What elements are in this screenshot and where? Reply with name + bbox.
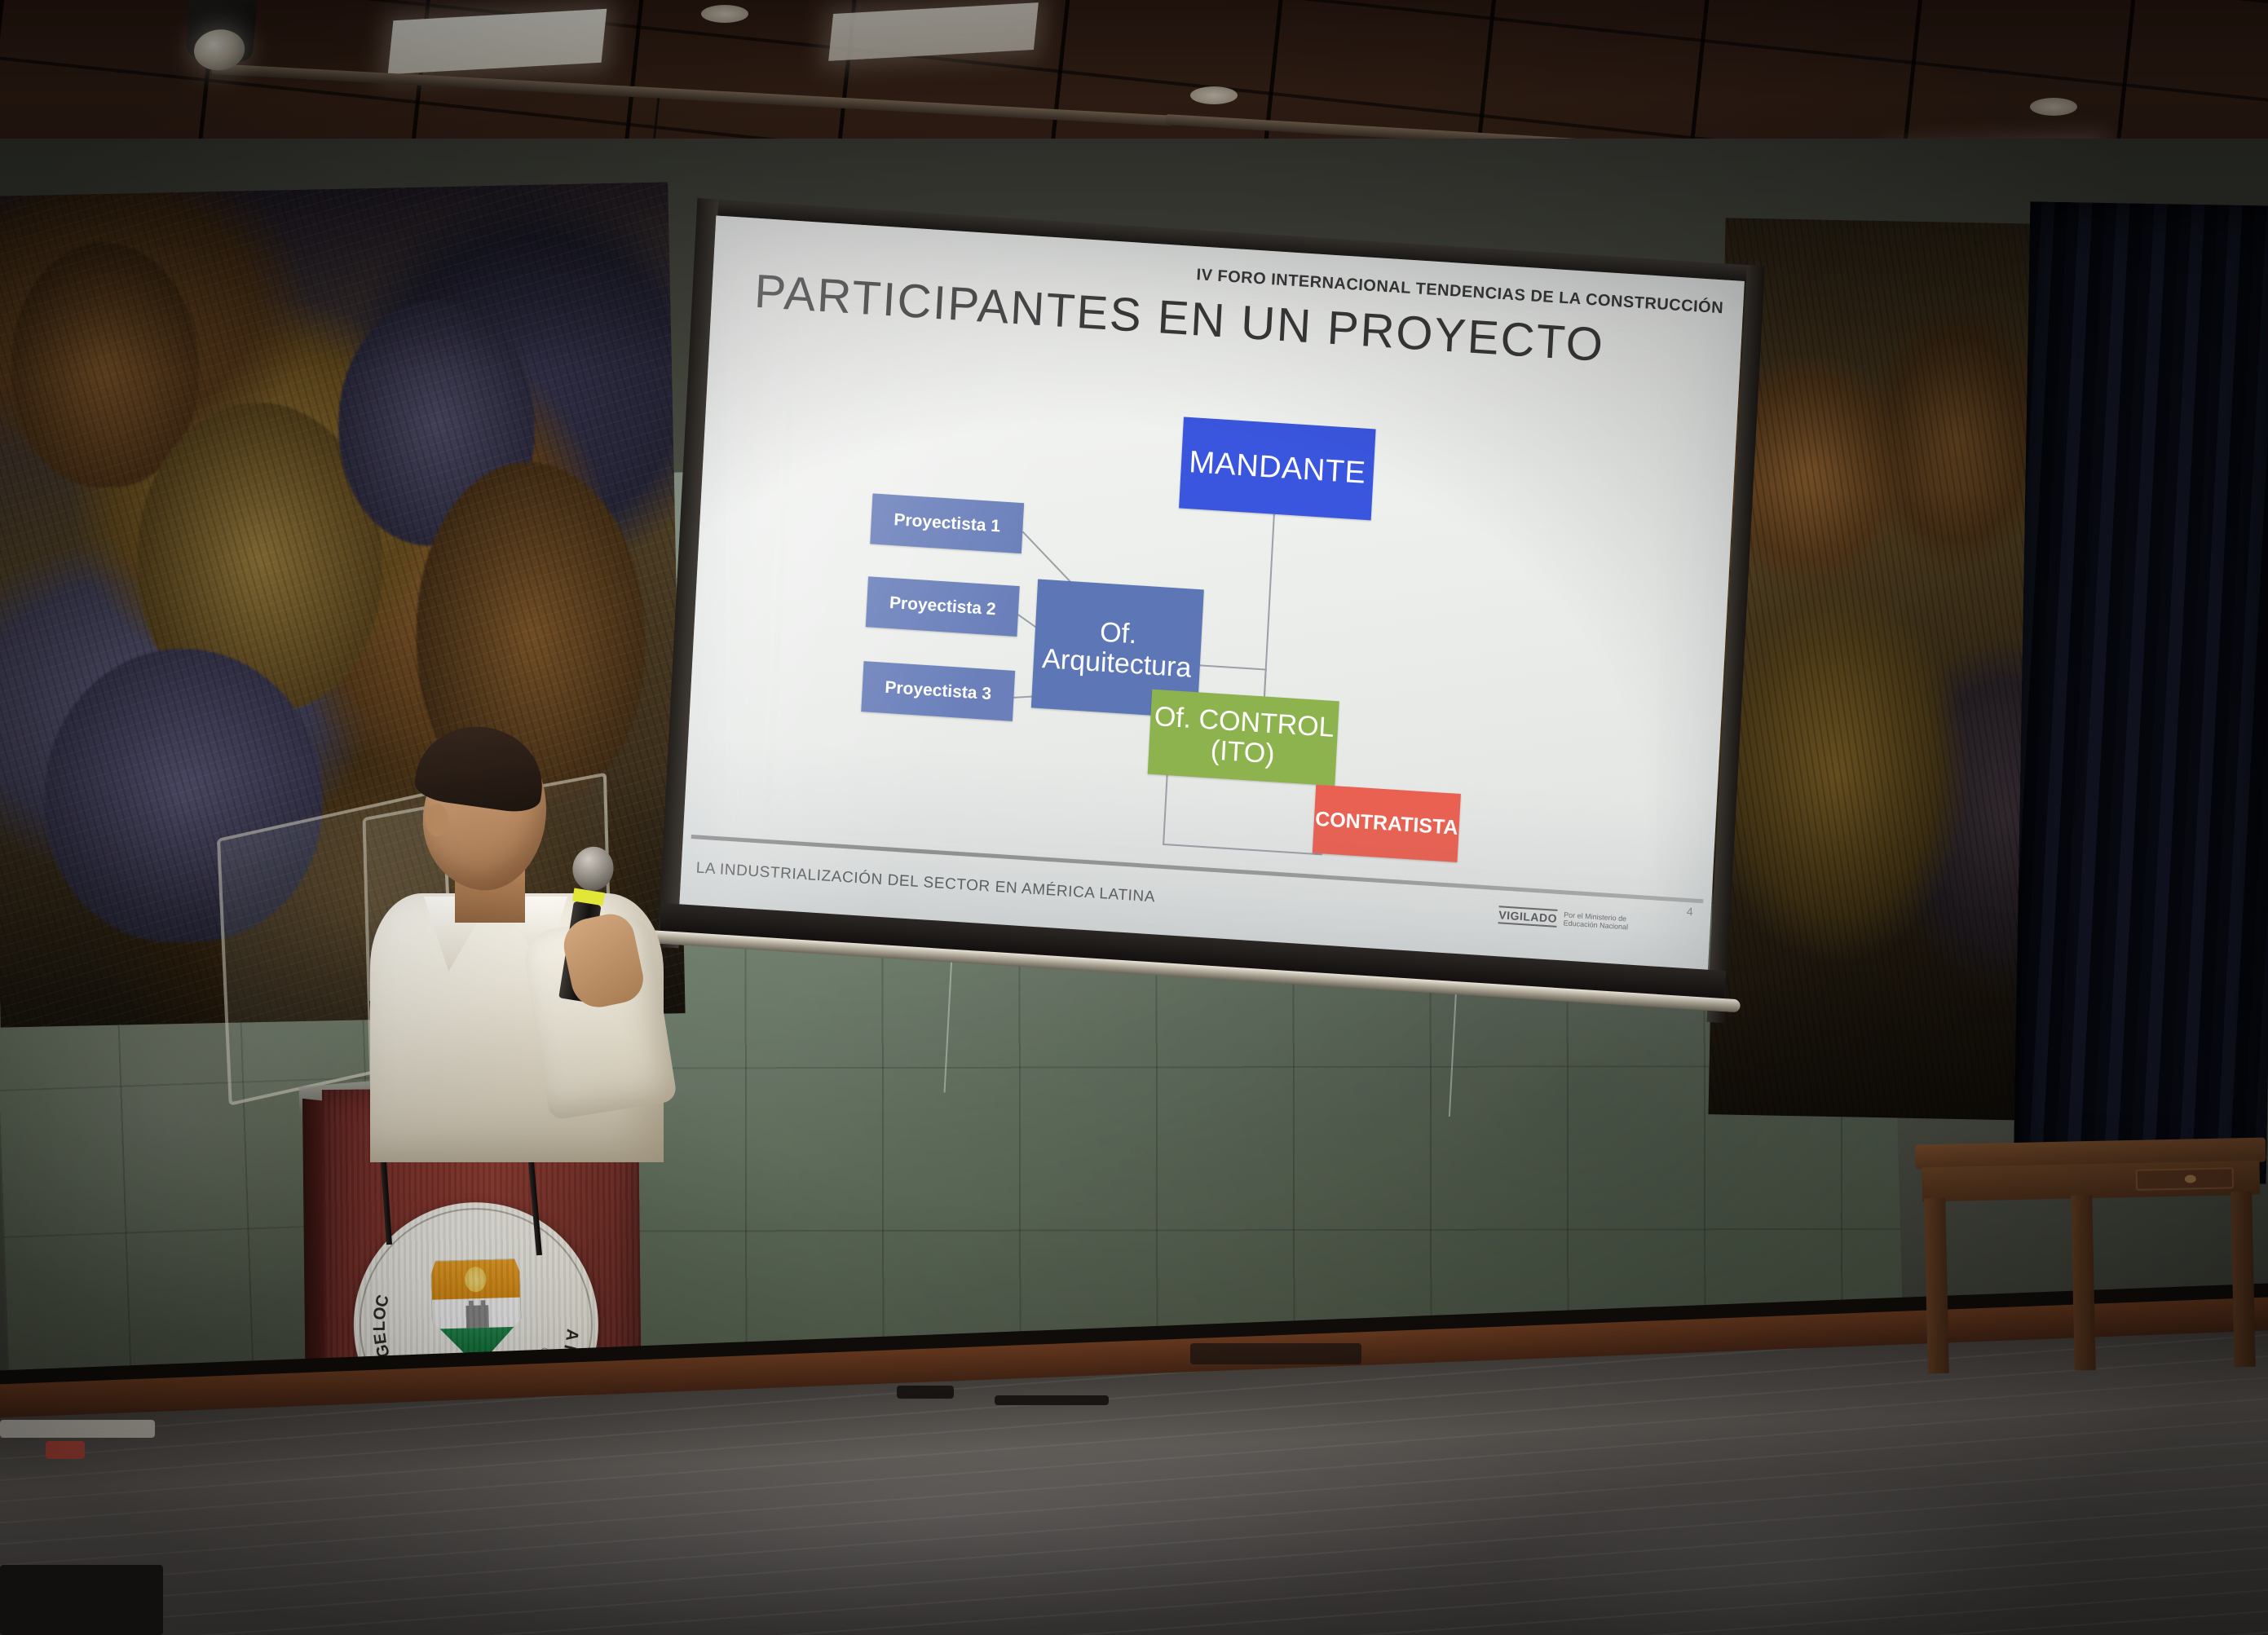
edge-ito-contratista <box>1163 844 1322 855</box>
floor-object <box>1190 1343 1361 1364</box>
screen-tension-wire <box>944 963 953 1093</box>
edge-ito-down <box>1163 775 1168 845</box>
floor-whiteboard <box>0 1420 155 1438</box>
node-of-control-ito[interactable]: Of. CONTROL (ITO) <box>1148 690 1339 786</box>
presentation-slide: IV FORO INTERNACIONAL TENDENCIAS DE LA C… <box>679 215 1745 971</box>
screen-tension-wire <box>1449 994 1457 1117</box>
speaker-ear <box>426 804 448 836</box>
slide-logo-subtext: Por el Ministerio de Educación Nacional <box>1563 912 1653 934</box>
node-contratista[interactable]: CONTRATISTA <box>1313 785 1461 862</box>
auditorium-scene: IV FORO INTERNACIONAL TENDENCIAS DE LA C… <box>0 0 2268 1635</box>
recessed-downlight <box>2030 98 2077 116</box>
floor-cable <box>897 1386 954 1399</box>
slide-logo: VIGILADO Por el Ministerio de Educación … <box>1498 906 1653 933</box>
node-proyectista-3[interactable]: Proyectista 3 <box>861 661 1015 721</box>
table-leg <box>2230 1192 2255 1367</box>
edge-arq-trunk <box>1200 664 1267 670</box>
slide-footer: LA INDUSTRIALIZACIÓN DEL SECTOR EN AMÉRI… <box>695 860 1155 907</box>
stage-curtain <box>2014 201 2268 1183</box>
node-proyectista-2[interactable]: Proyectista 2 <box>866 576 1020 637</box>
side-table <box>1915 1138 2268 1390</box>
table-leg <box>2071 1195 2095 1370</box>
node-proyectista-1[interactable]: Proyectista 1 <box>870 493 1024 553</box>
slide-page-number: 4 <box>1686 905 1693 918</box>
table-leg <box>1924 1198 1948 1373</box>
speaker-person <box>375 734 701 1125</box>
floor-crate <box>0 1565 163 1635</box>
floor-cable <box>995 1395 1109 1405</box>
recessed-downlight <box>701 5 748 23</box>
slide-title: PARTICIPANTES EN UN PROYECTO <box>753 264 1606 372</box>
node-mandante[interactable]: MANDANTE <box>1179 416 1375 520</box>
recessed-downlight <box>1190 86 1238 104</box>
slide-logo-mark: VIGILADO <box>1498 906 1558 928</box>
floor-marker <box>46 1441 85 1459</box>
projection-screen[interactable]: IV FORO INTERNACIONAL TENDENCIAS DE LA C… <box>651 198 1765 1129</box>
